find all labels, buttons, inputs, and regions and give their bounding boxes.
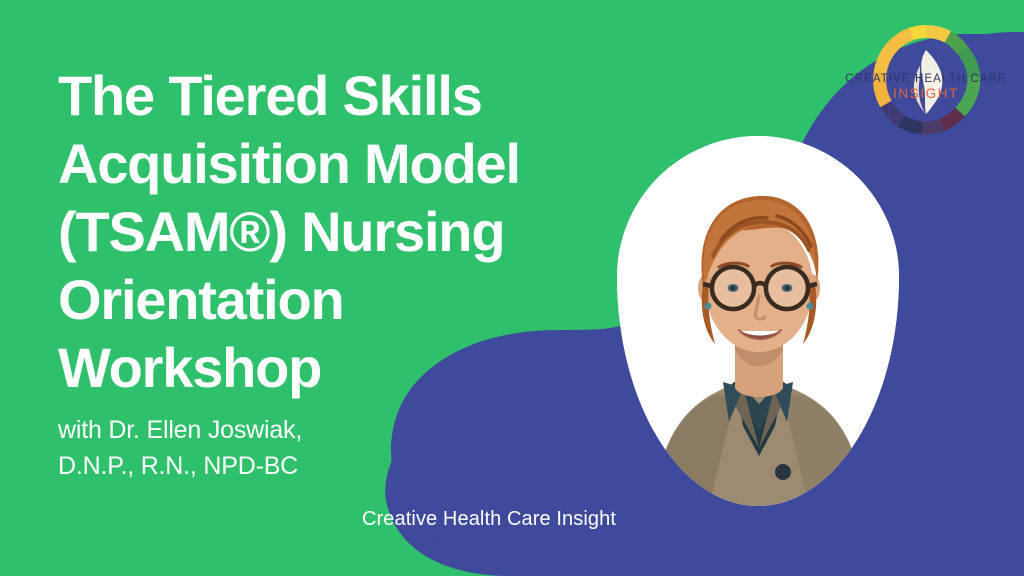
logo-ring-segment-lightgreen (948, 37, 963, 51)
title-block: The Tiered Skills Acquisition Model (TSA… (58, 62, 618, 402)
page-title: The Tiered Skills Acquisition Model (TSA… (58, 62, 618, 402)
logo-ring-segment-yellow (911, 32, 926, 35)
portrait-illustration (617, 136, 899, 506)
presenter-portrait (617, 136, 899, 506)
logo-graphic: CREATIVE HEALTH CARE INSIGHT (868, 22, 984, 138)
footer-brand-text: Creative Health Care Insight (362, 505, 616, 533)
logo-ring-segment-amber2 (880, 34, 911, 74)
logo-ring-segment-gold (926, 32, 948, 37)
logo-line1: CREATIVE HEALTH CARE (845, 73, 1007, 85)
logo-ring-segment-plum (942, 112, 960, 125)
logo-ring-segment-navy (901, 121, 922, 128)
portrait-circle-mask (617, 136, 899, 506)
logo-ring-segment-indigo (886, 104, 901, 121)
presentation-slide: The Tiered Skills Acquisition Model (TSA… (0, 0, 1024, 576)
presenter-subtitle: with Dr. Ellen Joswiak, D.N.P., R.N., NP… (58, 412, 302, 484)
logo-ring-segment-darkpurple (922, 125, 942, 128)
logo-line2: INSIGHT (893, 86, 959, 101)
creative-health-care-insight-logo: CREATIVE HEALTH CARE INSIGHT (868, 22, 984, 138)
